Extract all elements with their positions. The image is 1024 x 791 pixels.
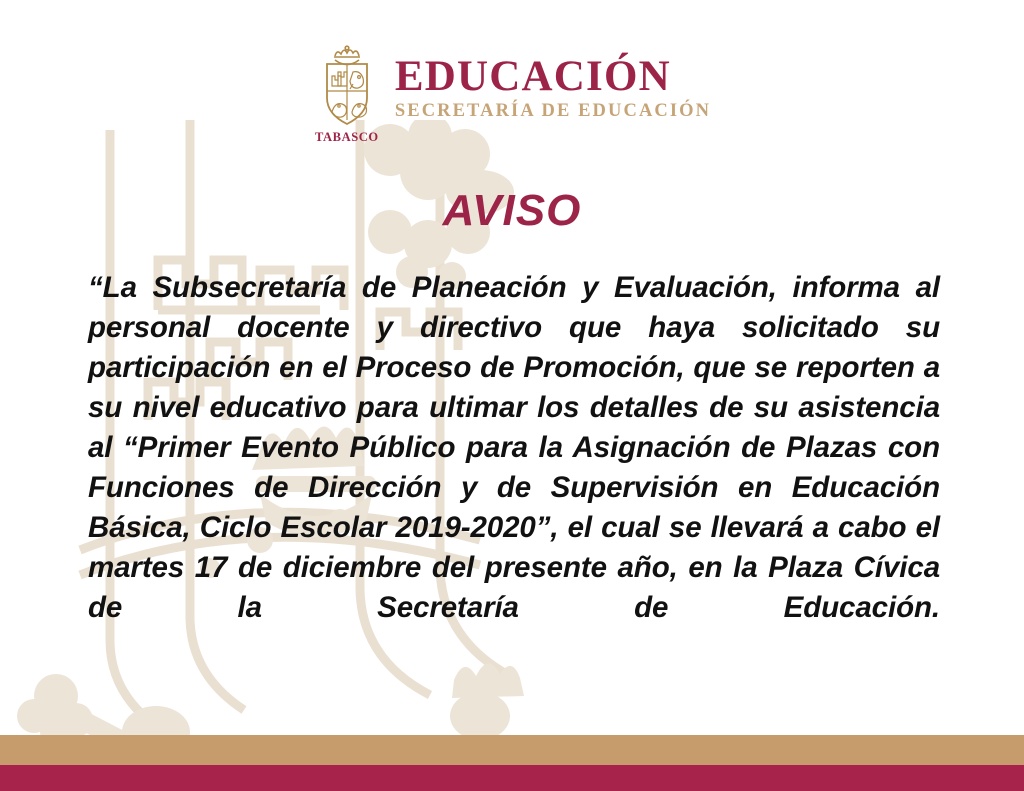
tabasco-caption: TABASCO [315, 130, 379, 145]
wordmark: EDUCACIÓN SECRETARÍA DE EDUCACIÓN [395, 44, 711, 121]
aviso-poster: TABASCO EDUCACIÓN SECRETARÍA DE EDUCACIÓ… [0, 0, 1024, 791]
wordmark-title: EDUCACIÓN [395, 56, 711, 98]
logo-lockup: TABASCO EDUCACIÓN SECRETARÍA DE EDUCACIÓ… [313, 44, 711, 145]
footer-band-gold [0, 735, 1024, 765]
header-logo-lockup: TABASCO EDUCACIÓN SECRETARÍA DE EDUCACIÓ… [0, 44, 1024, 160]
tabasco-coat-of-arms-icon: TABASCO [313, 44, 381, 145]
wordmark-subtitle: SECRETARÍA DE EDUCACIÓN [395, 101, 711, 121]
page-title: AVISO [0, 186, 1024, 236]
notice-paragraph: “La Subsecretaría de Planeación y Evalua… [88, 268, 940, 668]
notice-body: “La Subsecretaría de Planeación y Evalua… [88, 268, 940, 668]
footer-band-crimson [0, 765, 1024, 791]
